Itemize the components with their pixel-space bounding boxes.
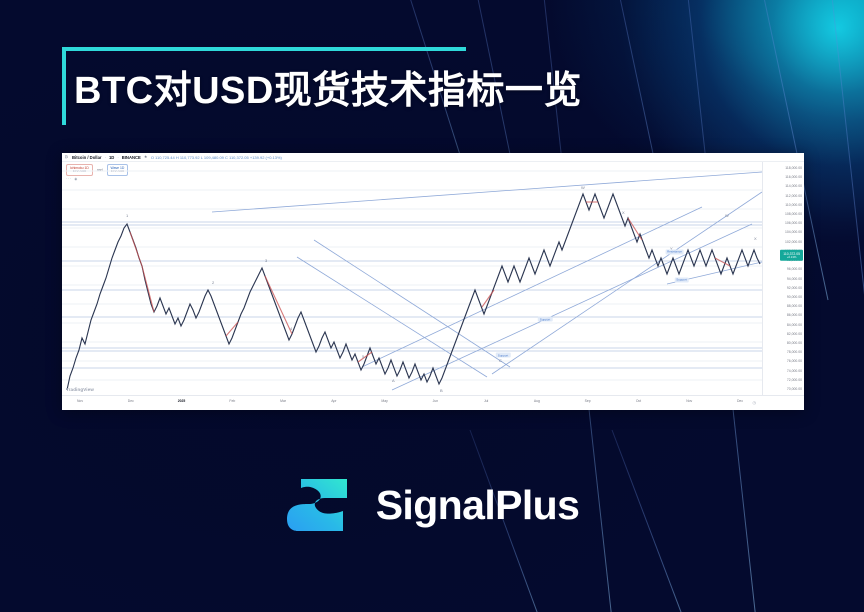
- brand-name: SignalPlus: [376, 482, 580, 529]
- toolbar-separator-2: ·: [117, 155, 118, 160]
- price-tick: 116,000.00: [785, 175, 802, 179]
- price-tick: 110,000.00: [785, 203, 802, 207]
- time-tick: Sep: [585, 399, 591, 403]
- chart-ohlc-readout: O 110,725.44 H 110,773.92 L 109,480.09 C…: [151, 155, 282, 160]
- svg-text:1: 1: [126, 213, 129, 218]
- price-tick: 88,000.00: [787, 304, 802, 308]
- price-tick: 94,000.00: [787, 277, 802, 281]
- current-price-change: +0.13%: [783, 256, 800, 259]
- title-rule-top: [62, 47, 466, 51]
- title-block: BTC对USD现货技术指标一览: [62, 47, 532, 125]
- brand-lockup: SignalPlus: [0, 474, 864, 536]
- svg-text:B: B: [440, 388, 443, 393]
- price-tick: 114,000.00: [785, 184, 802, 188]
- annot-support-1: Support: [674, 277, 689, 282]
- svg-text:C: C: [499, 358, 502, 363]
- time-tick: Mar: [280, 399, 286, 403]
- svg-text:W: W: [581, 185, 585, 190]
- time-tick: Oct: [636, 399, 641, 403]
- star-icon[interactable]: ★: [144, 155, 148, 159]
- price-tick: 112,000.00: [785, 194, 802, 198]
- chart-plot-area[interactable]: 1 2 3 4 5 A B C W X Y W X Resistance Sup…: [62, 162, 762, 395]
- svg-text:X: X: [622, 210, 625, 215]
- price-tick: 102,000.00: [785, 240, 802, 244]
- price-tick: 84,000.00: [787, 323, 802, 327]
- svg-text:2: 2: [212, 280, 215, 285]
- price-tick: 92,000.00: [787, 286, 802, 290]
- price-tick: 96,000.00: [787, 267, 802, 271]
- title-rule-left: [62, 47, 66, 125]
- price-tick: 104,000.00: [785, 230, 802, 234]
- price-tick: 76,000.00: [787, 359, 802, 363]
- time-tick: Jul: [484, 399, 488, 403]
- time-tick: Dec: [128, 399, 134, 403]
- price-scale[interactable]: 118,000.00116,000.00114,000.00112,000.00…: [762, 162, 804, 395]
- price-tick: 70,000.00: [787, 387, 802, 391]
- chart-candles-red: [130, 202, 730, 362]
- time-tick: Feb: [229, 399, 235, 403]
- annot-support-2: Support: [538, 317, 553, 322]
- chart-exchange[interactable]: BINANCE: [122, 155, 141, 160]
- price-tick: 106,000.00: [785, 221, 802, 225]
- price-chart-svg: 1 2 3 4 5 A B C W X Y W X: [62, 162, 762, 395]
- time-scale[interactable]: TradingView ◷ NovDec2025FebMarAprMayJunJ…: [62, 395, 804, 410]
- chart-level-lines: [62, 222, 762, 368]
- svg-text:4: 4: [290, 326, 293, 331]
- time-tick: Nov: [77, 399, 83, 403]
- current-price-badge[interactable]: 110,372.05+0.13%: [780, 250, 803, 260]
- price-tick: 82,000.00: [787, 332, 802, 336]
- chart-wave-markers: 1 2 3 4 5 A B C W X Y W X: [126, 185, 757, 393]
- time-tick: Aug: [534, 399, 540, 403]
- price-tick: 80,000.00: [787, 341, 802, 345]
- time-tick: Jun: [433, 399, 438, 403]
- time-tick: 2025: [178, 399, 186, 403]
- chart-symbol[interactable]: Bitcoin / Dollar: [72, 155, 102, 160]
- svg-text:5: 5: [362, 354, 365, 359]
- chart-gridlines: [62, 171, 762, 380]
- svg-text:W: W: [725, 213, 729, 218]
- time-tick: Apr: [331, 399, 336, 403]
- time-tick: Nov: [686, 399, 692, 403]
- price-tick: 118,000.00: [785, 166, 802, 170]
- chart-card[interactable]: ₿ Bitcoin / Dollar · 1D · BINANCE ★ O 11…: [62, 153, 804, 410]
- toolbar-separator: ·: [105, 155, 106, 160]
- symbol-icon: ₿: [65, 155, 69, 159]
- time-tick: May: [381, 399, 387, 403]
- time-tick: Dec: [737, 399, 743, 403]
- annot-resistance-1: Resistance: [665, 249, 684, 254]
- svg-text:X: X: [754, 236, 757, 241]
- chart-toolbar[interactable]: ₿ Bitcoin / Dollar · 1D · BINANCE ★ O 11…: [62, 153, 804, 162]
- signalplus-logo-icon: [285, 474, 359, 536]
- page-title: BTC对USD现货技术指标一览: [74, 59, 582, 114]
- tradingview-logo: TradingView: [66, 387, 94, 392]
- price-tick: 78,000.00: [787, 350, 802, 354]
- price-tick: 86,000.00: [787, 313, 802, 317]
- price-tick: 90,000.00: [787, 295, 802, 299]
- clock-icon[interactable]: ◷: [753, 400, 757, 405]
- price-tick: 108,000.00: [785, 212, 802, 216]
- price-tick: 74,000.00: [787, 369, 802, 373]
- price-tick: 72,000.00: [787, 378, 802, 382]
- annot-support-3: Support: [496, 353, 511, 358]
- svg-text:A: A: [392, 378, 395, 383]
- chart-interval[interactable]: 1D: [109, 155, 114, 160]
